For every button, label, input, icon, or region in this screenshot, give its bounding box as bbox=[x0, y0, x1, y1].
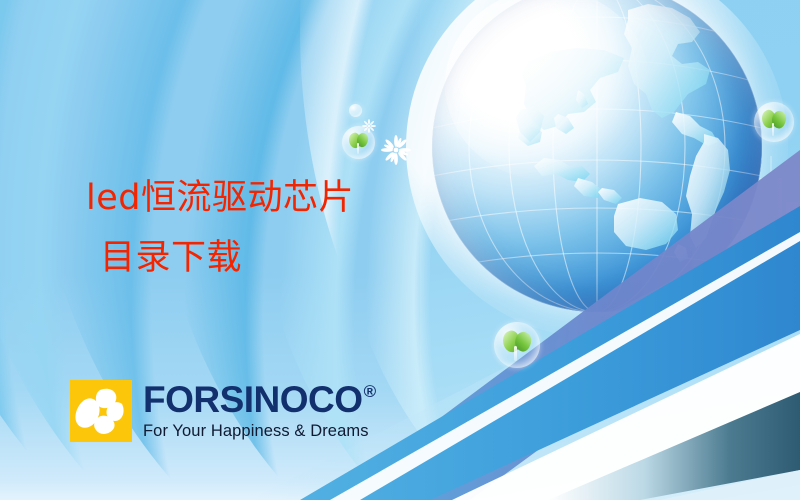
brand-name: FORSINOCO ® bbox=[143, 381, 376, 418]
registered-trademark-symbol: ® bbox=[364, 383, 376, 400]
bubble-with-green-leaves-right bbox=[754, 102, 794, 142]
bubble-with-green-leaves-lower bbox=[494, 322, 540, 368]
headline-line-1: led恒流驱动芯片 bbox=[86, 178, 354, 218]
earth-globe bbox=[432, 0, 762, 312]
headline: led恒流驱动芯片 目录下载 bbox=[86, 168, 354, 288]
headline-line-2: 目录下载 bbox=[86, 228, 354, 288]
bubble-with-green-leaves-left bbox=[342, 126, 375, 159]
stem-shape bbox=[772, 123, 775, 136]
forsinoco-flower-mark-icon bbox=[70, 380, 132, 442]
bubble-small-top bbox=[349, 104, 362, 117]
stem-shape bbox=[357, 143, 359, 154]
brand-tagline: For Your Happiness & Dreams bbox=[143, 421, 376, 441]
brand-name-text: FORSINOCO bbox=[143, 381, 363, 418]
stem-shape bbox=[514, 346, 517, 361]
company-logo[interactable]: FORSINOCO ® For Your Happiness & Dreams bbox=[70, 380, 376, 442]
logo-wordmark: FORSINOCO ® For Your Happiness & Dreams bbox=[143, 381, 376, 441]
four-petal-flower-icon bbox=[70, 380, 132, 442]
promo-banner: led恒流驱动芯片 目录下载 FORSINOCO ® bbox=[0, 0, 800, 500]
